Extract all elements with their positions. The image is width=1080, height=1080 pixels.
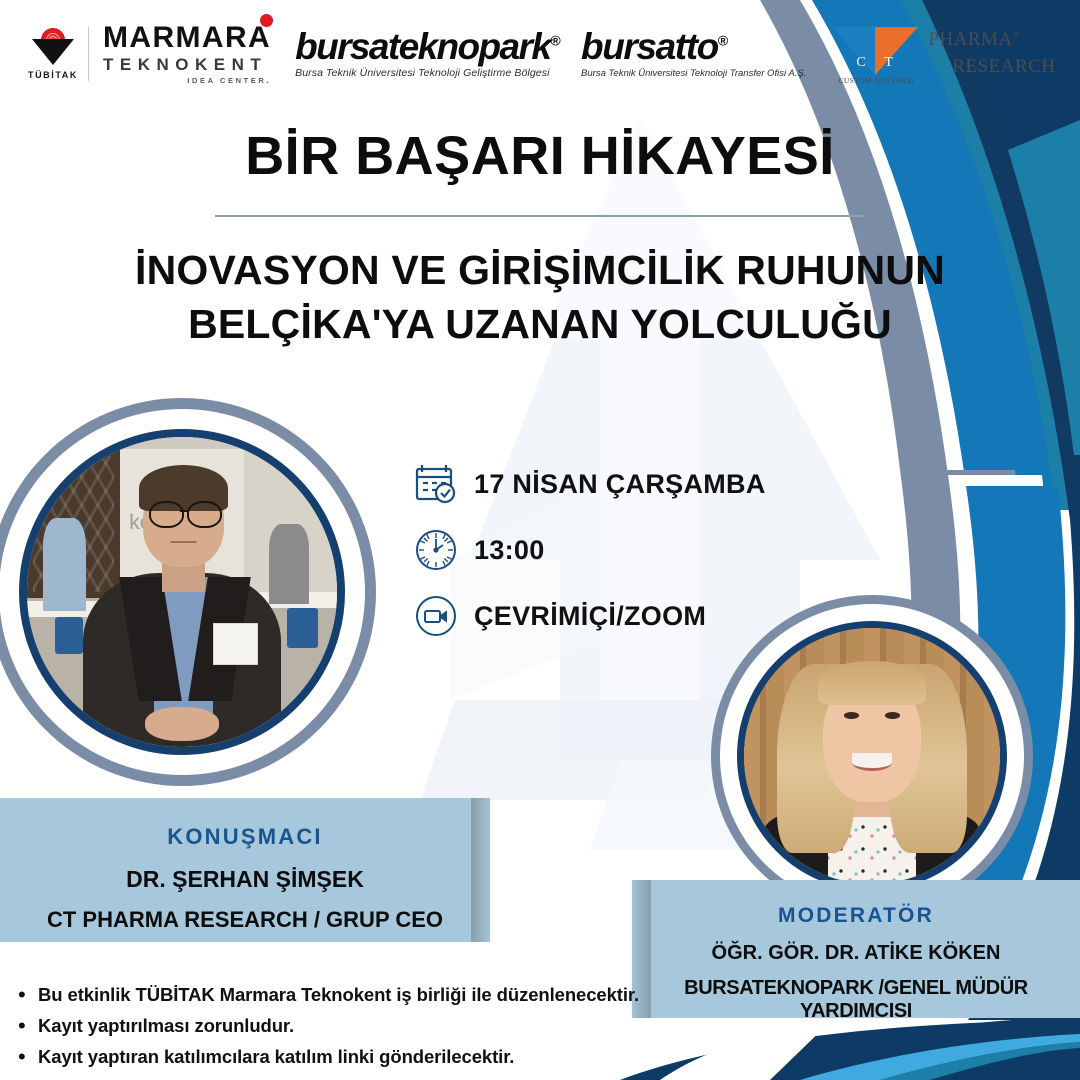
- list-item: • Bu etkinlik TÜBİTAK Marmara Teknokent …: [18, 984, 678, 1006]
- avatar-speaker: kerit: [8, 418, 356, 766]
- moderator-role-label: MODERATÖR: [632, 880, 1080, 928]
- speaker-portrait-image: kerit: [19, 429, 345, 755]
- swoosh-white-notch-bottom: [660, 1022, 830, 1080]
- calendar-check-icon: [412, 460, 460, 508]
- marmara-line-3: IDEA CENTER.: [187, 76, 271, 85]
- registered-mark-icon: ®: [718, 33, 727, 49]
- page-title: BİR BAŞARI HİKAYESİ: [0, 128, 1080, 185]
- logo-tubitak: TÜBİTAK: [22, 28, 84, 80]
- ct-word-pharma: PHARMA®: [928, 29, 1055, 51]
- ct-tagline: CUSTOM TAILORED: [828, 76, 924, 85]
- detail-row-time: 13:00: [412, 526, 766, 574]
- logo-bursateknopark: bursateknopark® Bursa Teknik Üniversites…: [295, 29, 559, 78]
- event-details: 17 NİSAN ÇARŞAMBA: [412, 460, 766, 658]
- detail-row-date: 17 NİSAN ÇARŞAMBA: [412, 460, 766, 508]
- avatar-moderator: [728, 612, 1016, 900]
- tubitak-wordmark: TÜBİTAK: [28, 70, 78, 80]
- detail-date-text: 17 NİSAN ÇARŞAMBA: [474, 469, 766, 500]
- bursatto-tagline: Bursa Teknik Üniversitesi Teknoloji Tran…: [581, 68, 806, 79]
- speaker-organization: CT PHARMA RESEARCH / GRUP CEO: [0, 893, 490, 933]
- title-divider: [215, 215, 865, 217]
- tubitak-logo-icon: [32, 28, 74, 68]
- detail-time-text: 13:00: [474, 535, 545, 566]
- bursateknopark-tagline: Bursa Teknik Üniversitesi Teknoloji Geli…: [295, 67, 549, 79]
- notes-list: • Bu etkinlik TÜBİTAK Marmara Teknokent …: [18, 984, 678, 1077]
- clock-icon: [412, 526, 460, 574]
- title-block: BİR BAŞARI HİKAYESİ İNOVASYON VE GİRİŞİM…: [0, 128, 1080, 351]
- moderator-name: ÖĞR. GÖR. DR. ATİKE KÖKEN: [632, 928, 1080, 965]
- detail-row-platform: ÇEVRİMİÇİ/ZOOM: [412, 592, 766, 640]
- bursatto-wordmark: bursatto®: [581, 29, 727, 64]
- ct-triangle-icon: C T CUSTOM TAILORED: [832, 23, 918, 85]
- note-text: Kayıt yaptıran katılımcılara katılım lin…: [38, 1046, 514, 1067]
- speaker-name: DR. ŞERHAN ŞİMŞEK: [0, 850, 490, 893]
- moderator-portrait-image: [737, 621, 1007, 891]
- logo-divider: [88, 27, 89, 81]
- subtitle-line-2: BELÇİKA'YA UZANAN YOLCULUĞU: [0, 297, 1080, 351]
- registered-mark-icon: ®: [550, 33, 559, 49]
- bullet-icon: •: [18, 1015, 38, 1037]
- ct-wordmark: PHARMA® RESEARCH: [928, 29, 1055, 78]
- logo-marmara-teknokent: MARMARA TEKNOKENT IDEA CENTER.: [103, 23, 271, 86]
- swoosh-lightblue-bottom: [800, 1034, 1080, 1080]
- moderator-organization: BURSATEKNOPARK /GENEL MÜDÜR YARDIMCISI: [632, 965, 1080, 1023]
- swoosh-navy-bottom-2: [620, 1020, 1080, 1080]
- list-item: • Kayıt yaptıran katılımcılara katılım l…: [18, 1046, 678, 1068]
- list-item: • Kayıt yaptırılması zorunludur.: [18, 1015, 678, 1037]
- marmara-line-1: MARMARA: [103, 23, 271, 53]
- logo-ct-pharma-research: C T CUSTOM TAILORED PHARMA® RESEARCH: [832, 23, 1055, 85]
- note-text: Bu etkinlik TÜBİTAK Marmara Teknokent iş…: [38, 984, 639, 1005]
- moderator-info-panel: MODERATÖR ÖĞR. GÖR. DR. ATİKE KÖKEN BURS…: [632, 880, 1080, 1018]
- bullet-icon: •: [18, 984, 38, 1006]
- sponsor-logo-bar: TÜBİTAK MARMARA TEKNOKENT IDEA CENTER. b…: [0, 0, 1080, 108]
- speaker-role-label: KONUŞMACI: [0, 798, 490, 850]
- subtitle-line-1: İNOVASYON VE GİRİŞİMCİLİK RUHUNUN: [0, 243, 1080, 297]
- logo-bursatto: bursatto® Bursa Teknik Üniversitesi Tekn…: [581, 29, 806, 78]
- panel-torn-edge: [471, 798, 493, 942]
- ct-word-research: RESEARCH: [952, 56, 1055, 78]
- registered-mark-icon: ®: [1013, 30, 1020, 40]
- note-text: Kayıt yaptırılması zorunludur.: [38, 1015, 294, 1036]
- detail-platform-text: ÇEVRİMİÇİ/ZOOM: [474, 601, 706, 632]
- bullet-icon: •: [18, 1046, 38, 1068]
- marmara-line-2: TEKNOKENT: [103, 53, 267, 77]
- bursateknopark-wordmark: bursateknopark®: [295, 29, 559, 64]
- marmara-dot-icon: [260, 14, 273, 27]
- swoosh-teal-bottom: [880, 1042, 1080, 1080]
- speaker-info-panel: KONUŞMACI DR. ŞERHAN ŞİMŞEK CT PHARMA RE…: [0, 798, 490, 942]
- event-poster: TÜBİTAK MARMARA TEKNOKENT IDEA CENTER. b…: [0, 0, 1080, 1080]
- ct-letter-t: T: [884, 55, 893, 71]
- ct-letter-c: C: [856, 55, 865, 71]
- video-camera-icon: [412, 592, 460, 640]
- swoosh-navy-bottom: [700, 1016, 1080, 1080]
